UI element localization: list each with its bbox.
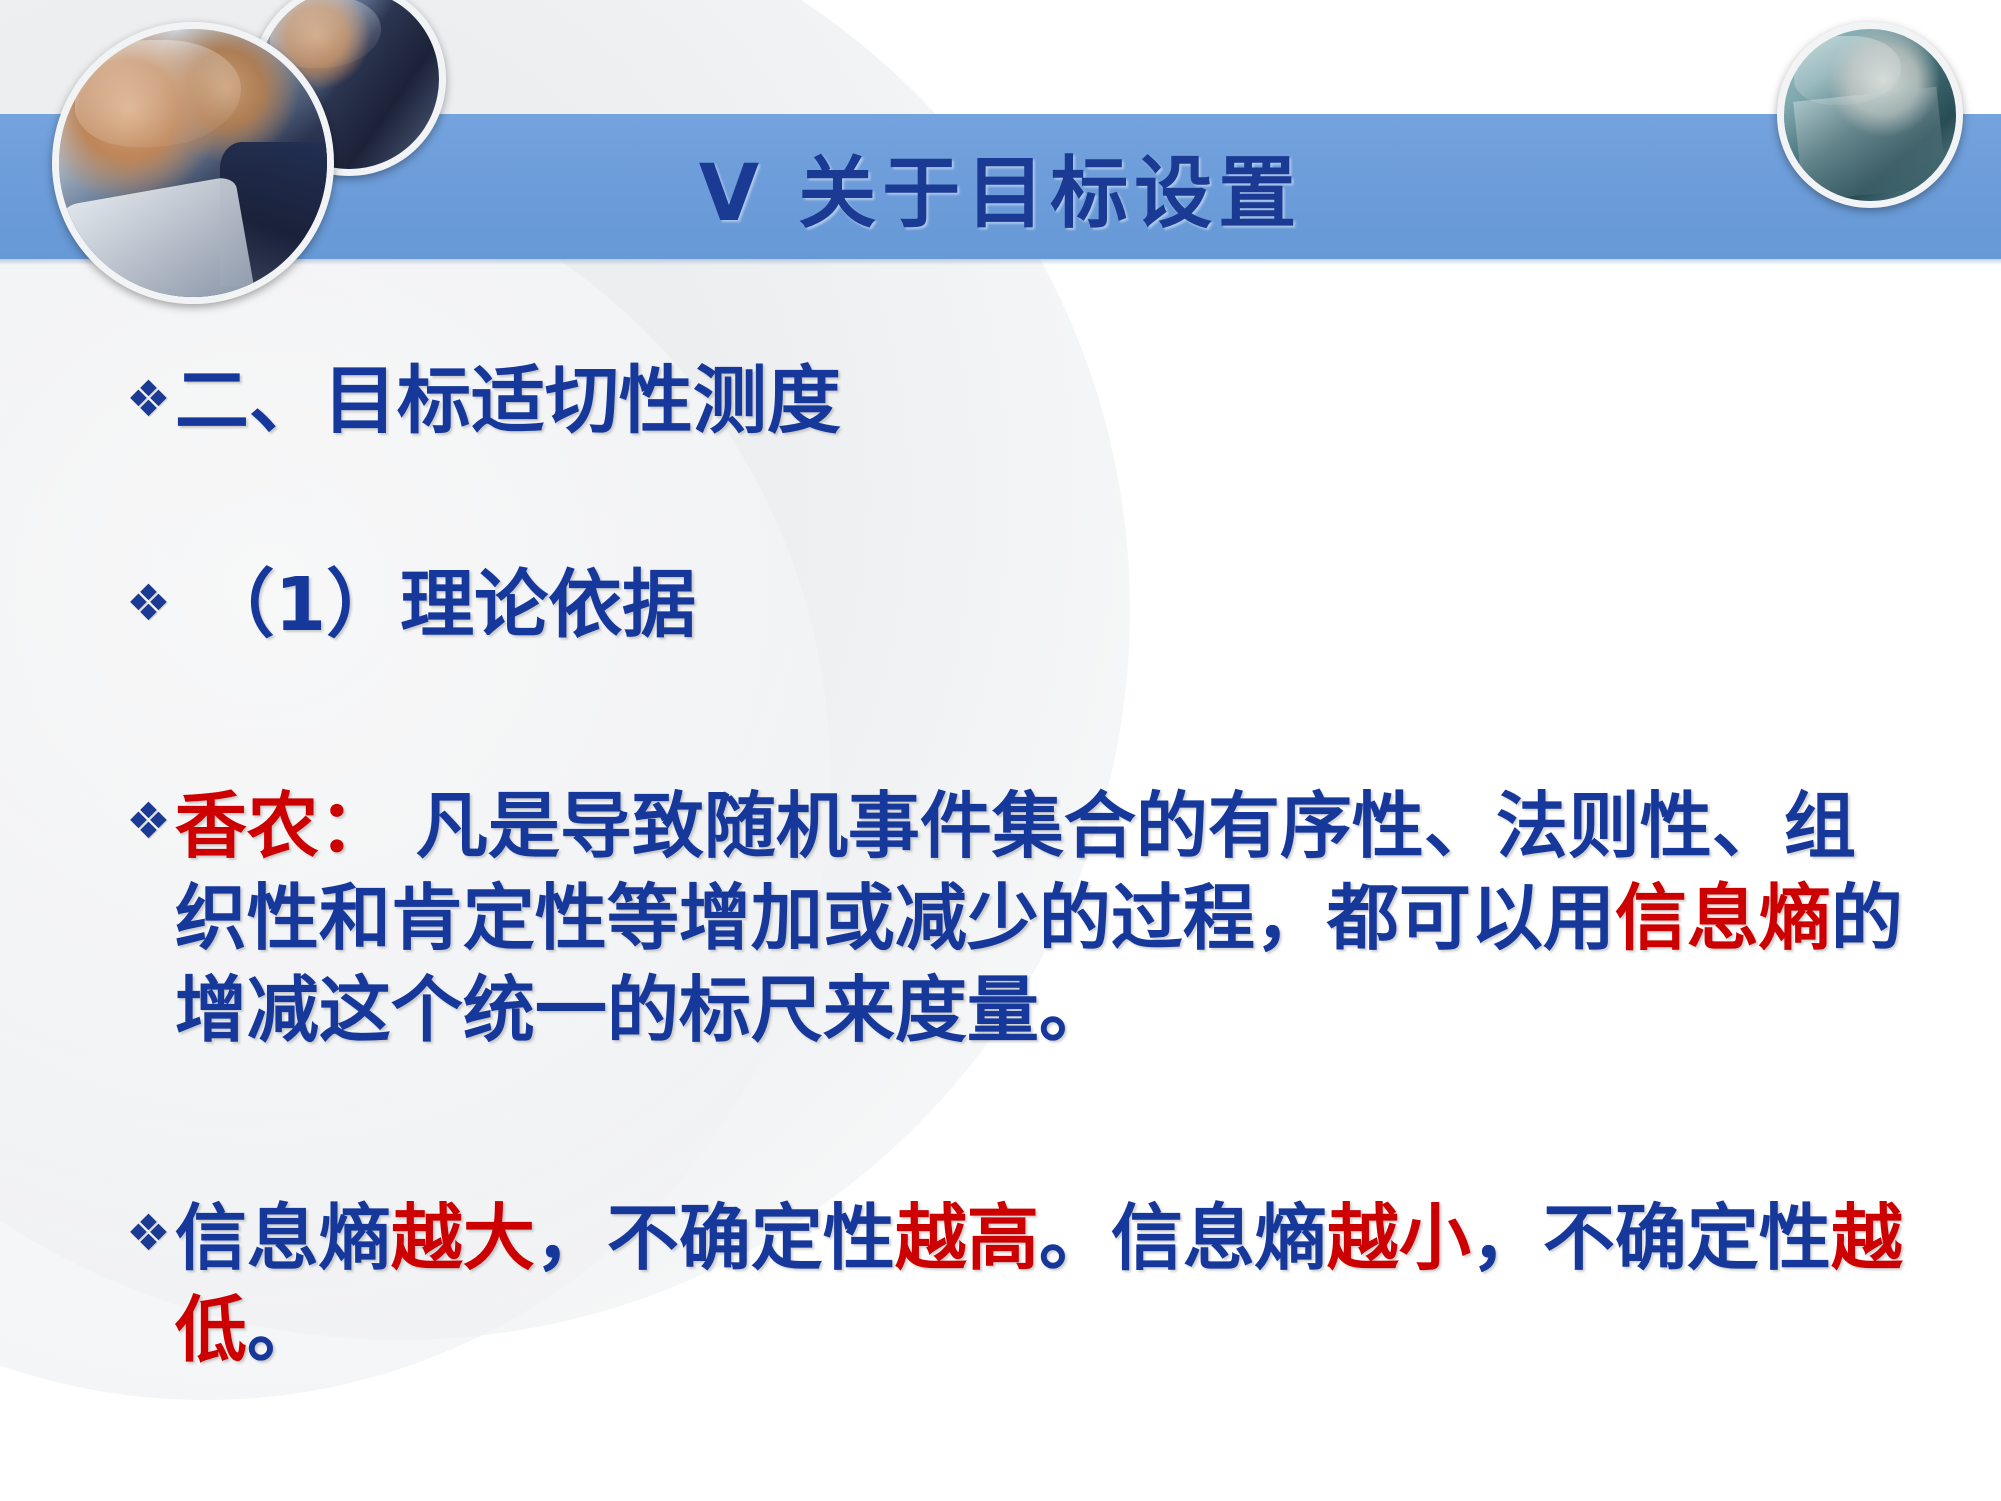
text-run-2: 越大 xyxy=(391,1196,535,1280)
text-run-4: 越高 xyxy=(895,1196,1039,1280)
bullet-item-2: ❖ （1）理论依据 xyxy=(126,562,696,649)
text-run-1: （1）理论依据 xyxy=(175,562,696,648)
text-run-2: 凡是导致随机事件集合的有序性、法则性、组织性和肯定性等增加或减少的过程，都可以用 xyxy=(175,784,1856,960)
bullet-4-text: 信息熵越大，不确定性越高。信息熵越小，不确定性越低。 xyxy=(175,1192,1926,1376)
bullet-1-text: 二、目标适切性测度 xyxy=(175,358,841,445)
business-people-photo-circle-large xyxy=(52,22,334,304)
text-run-3: ，不确定性 xyxy=(535,1196,895,1280)
text-run-5: 。信息熵 xyxy=(1039,1196,1327,1280)
diamond-bullet-icon: ❖ xyxy=(126,1208,171,1258)
bullet-item-3: ❖ 香农： 凡是导致随机事件集合的有序性、法则性、组织性和肯定性等增加或减少的过… xyxy=(126,780,1926,1056)
diamond-bullet-icon: ❖ xyxy=(126,374,171,424)
slide-body: ❖ 二、目标适切性测度 ❖ （1）理论依据 ❖ 香农： 凡是导致随机事件集合的有… xyxy=(0,300,2001,1500)
text-run-3: 信息熵 xyxy=(1615,876,1831,960)
diamond-bullet-icon: ❖ xyxy=(126,578,171,628)
text-run-1: 香农： xyxy=(175,784,391,868)
bullet-3-text: 香农： 凡是导致随机事件集合的有序性、法则性、组织性和肯定性等增加或减少的过程，… xyxy=(175,780,1926,1056)
bullet-2-text: （1）理论依据 xyxy=(175,562,696,649)
text-run-1: 二、目标适切性测度 xyxy=(175,358,841,444)
bullet-item-1: ❖ 二、目标适切性测度 xyxy=(126,358,841,445)
text-run-9: 。 xyxy=(247,1288,319,1372)
text-run-6: 越小 xyxy=(1327,1196,1471,1280)
diamond-bullet-icon: ❖ xyxy=(126,796,171,846)
text-run-7: ，不确定性 xyxy=(1471,1196,1831,1280)
slide-canvas: Ⅴ 关于目标设置 ❖ 二、目标适切性测度 ❖ （1）理论依据 ❖ 香农： 凡是导… xyxy=(0,0,2001,1501)
business-person-photo-circle-right xyxy=(1777,22,1963,208)
text-run-1: 信息熵 xyxy=(175,1196,391,1280)
bullet-item-4: ❖ 信息熵越大，不确定性越高。信息熵越小，不确定性越低。 xyxy=(126,1192,1926,1376)
